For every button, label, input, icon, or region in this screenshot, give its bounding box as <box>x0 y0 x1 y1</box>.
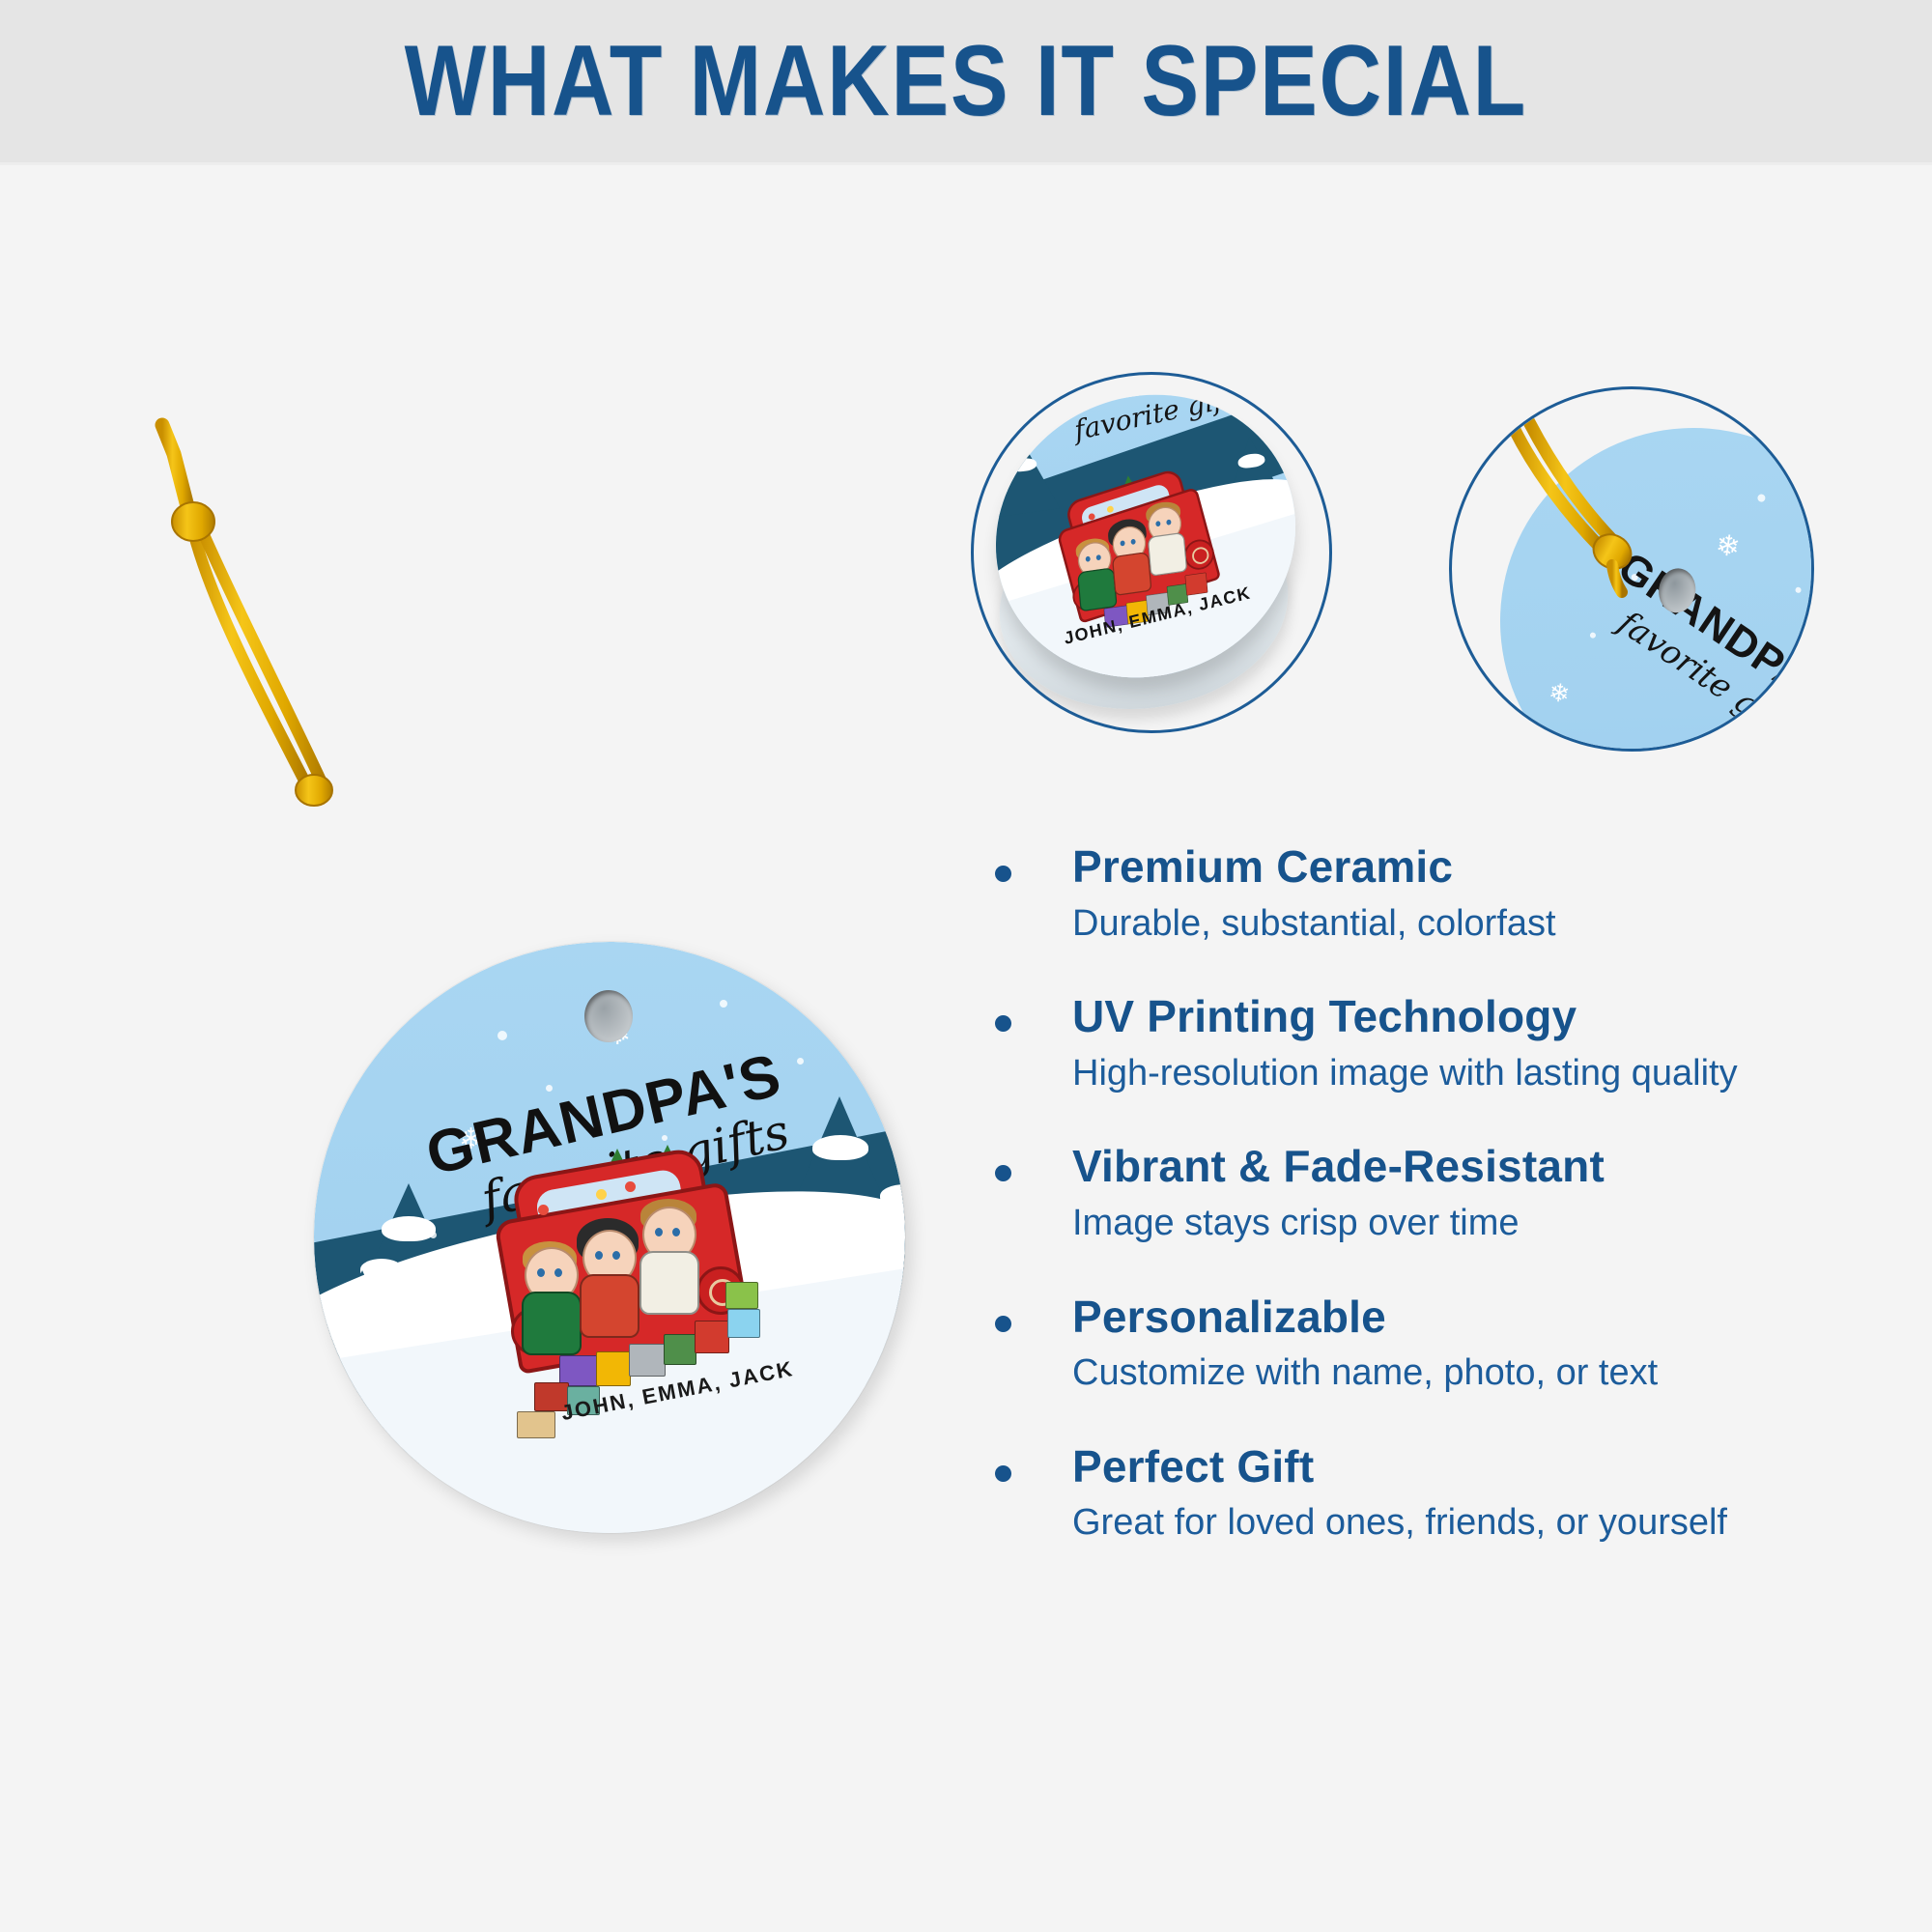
gold-cord-closeup <box>1452 389 1811 749</box>
feature-description: Customize with name, photo, or text <box>1072 1352 1913 1395</box>
header-bar: WHAT MAKES IT SPECIAL <box>0 0 1932 165</box>
gift-box <box>596 1351 631 1386</box>
string-light <box>625 1181 636 1192</box>
feature-list: Premium Ceramic Durable, substantial, co… <box>995 842 1913 1592</box>
string-light <box>538 1205 549 1215</box>
bullet-icon <box>995 1465 1011 1482</box>
bullet-icon <box>995 866 1011 882</box>
ornament-front-view: ❄ ❄ GRANDPA'S favorite gifts <box>314 942 905 1533</box>
string-light <box>567 1197 578 1207</box>
gift-box <box>517 1411 555 1438</box>
feature-title: Vibrant & Fade-Resistant <box>1072 1142 1913 1192</box>
gold-cord <box>116 415 966 1034</box>
gift-box <box>664 1334 696 1365</box>
gift-box <box>727 1309 760 1338</box>
detail-view-front: favorite gifts <box>971 372 1332 733</box>
bullet-icon <box>995 1316 1011 1332</box>
gift-box <box>629 1344 666 1377</box>
feature-item: Vibrant & Fade-Resistant Image stays cri… <box>995 1142 1913 1244</box>
feature-item: UV Printing Technology High-resolution i… <box>995 992 1913 1094</box>
gift-box <box>695 1321 729 1353</box>
feature-title: Perfect Gift <box>1072 1442 1913 1492</box>
feature-title: Premium Ceramic <box>1072 842 1913 893</box>
feature-description: High-resolution image with lasting quali… <box>1072 1053 1913 1095</box>
string-light <box>596 1189 607 1200</box>
feature-title: Personalizable <box>1072 1293 1913 1343</box>
feature-description: Great for loved ones, friends, or yourse… <box>1072 1502 1913 1545</box>
bullet-icon <box>995 1165 1011 1181</box>
main-product-image: ❄ ❄ GRANDPA'S favorite gifts <box>116 415 966 1787</box>
ornament-face-angled: favorite gifts <box>984 376 1307 697</box>
hanging-hole <box>584 990 633 1042</box>
gift-box <box>725 1282 758 1309</box>
feature-item: Perfect Gift Great for loved ones, frien… <box>995 1442 1913 1545</box>
feature-item: Personalizable Customize with name, phot… <box>995 1293 1913 1395</box>
detail-view-cord: ❄ ❄ GRANDPA'S favorite gifts <box>1449 386 1814 752</box>
feature-title: UV Printing Technology <box>1072 992 1913 1042</box>
page-title: WHAT MAKES IT SPECIAL <box>405 24 1527 139</box>
feature-item: Premium Ceramic Durable, substantial, co… <box>995 842 1913 945</box>
bullet-icon <box>995 1015 1011 1032</box>
feature-description: Image stays crisp over time <box>1072 1203 1913 1245</box>
feature-description: Durable, substantial, colorfast <box>1072 903 1913 946</box>
